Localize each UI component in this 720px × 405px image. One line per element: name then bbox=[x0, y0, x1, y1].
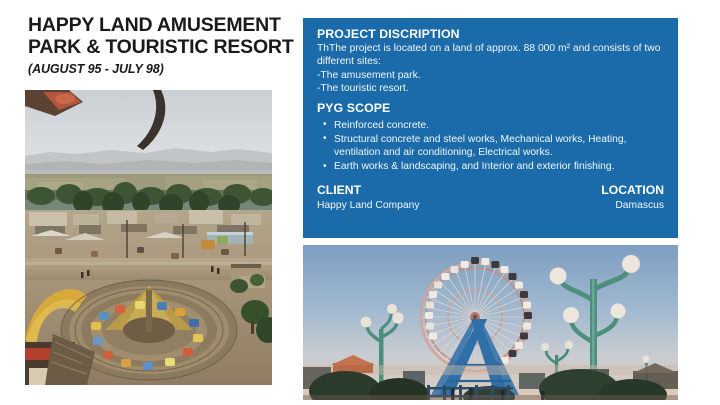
aerial-park-image bbox=[25, 90, 272, 385]
project-description-body: ThThe project is located on a land of ap… bbox=[317, 42, 664, 69]
aerial-park-photo bbox=[25, 90, 272, 385]
location-value: Damascus bbox=[615, 199, 664, 213]
client-location-labels: CLIENT LOCATION bbox=[317, 183, 664, 198]
page-title: HAPPY LAND AMUSEMENT PARK & TOURISTIC RE… bbox=[28, 14, 296, 77]
title-subtitle: (AUGUST 95 - JULY 98) bbox=[28, 61, 296, 77]
list-item: Structural concrete and steel works, Mec… bbox=[317, 133, 664, 160]
project-info-panel: PROJECT DISCRIPTION ThThe project is loc… bbox=[303, 18, 678, 238]
project-site-item-1: -The amusement park. bbox=[317, 69, 664, 82]
ferris-wheel-image bbox=[303, 245, 678, 400]
client-value: Happy Land Company bbox=[317, 199, 419, 213]
list-item: Reinforced concrete. bbox=[317, 119, 664, 133]
project-site-item-2: -The touristic resort. bbox=[317, 82, 664, 95]
pyg-scope-list: Reinforced concrete. Structural concrete… bbox=[317, 119, 664, 174]
title-line-1: HAPPY LAND AMUSEMENT bbox=[28, 14, 296, 36]
title-line-2: PARK & TOURISTIC RESORT bbox=[28, 36, 296, 58]
client-location-values: Happy Land Company Damascus bbox=[317, 199, 664, 213]
project-description-heading: PROJECT DISCRIPTION bbox=[317, 27, 664, 42]
location-label: LOCATION bbox=[601, 183, 664, 198]
ferris-wheel-photo bbox=[303, 245, 678, 400]
list-item: Earth works & landscaping, and Interior … bbox=[317, 160, 664, 174]
pyg-scope-heading: PYG SCOPE bbox=[317, 101, 664, 116]
slide-canvas: HAPPY LAND AMUSEMENT PARK & TOURISTIC RE… bbox=[0, 0, 720, 405]
client-label: CLIENT bbox=[317, 183, 361, 198]
